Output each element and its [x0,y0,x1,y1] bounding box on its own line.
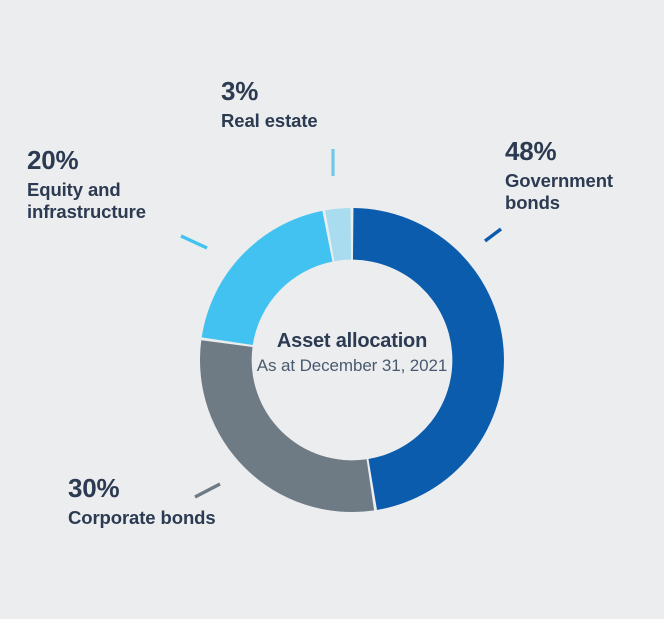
leader-line-equity [181,236,207,248]
callout-real-estate: 3% Real estate [221,76,318,132]
callout-equity-percent: 20% [27,145,202,177]
callout-real-estate-label: Real estate [221,110,318,133]
asset-allocation-donut-chart: 3% Real estate 48% Government bonds 20% … [0,0,664,619]
callout-corporate-bonds-percent: 30% [68,473,218,505]
callout-equity-label: Equity and infrastructure [27,179,202,224]
leader-line-government-bonds [485,229,501,241]
donut-segment-equity-and-infrastructure [202,211,333,345]
callout-government-bonds-percent: 48% [505,136,655,168]
center-title: Asset allocation [232,330,472,353]
donut-center-label: Asset allocation As at December 31, 2021 [232,330,472,376]
callout-government-bonds-label: Government bonds [505,170,655,215]
callout-equity: 20% Equity and infrastructure [27,145,202,224]
callout-corporate-bonds: 30% Corporate bonds [68,473,218,529]
callout-corporate-bonds-label: Corporate bonds [68,507,218,530]
callout-government-bonds: 48% Government bonds [505,136,655,215]
center-subtitle: As at December 31, 2021 [232,356,472,376]
callout-real-estate-percent: 3% [221,76,318,108]
